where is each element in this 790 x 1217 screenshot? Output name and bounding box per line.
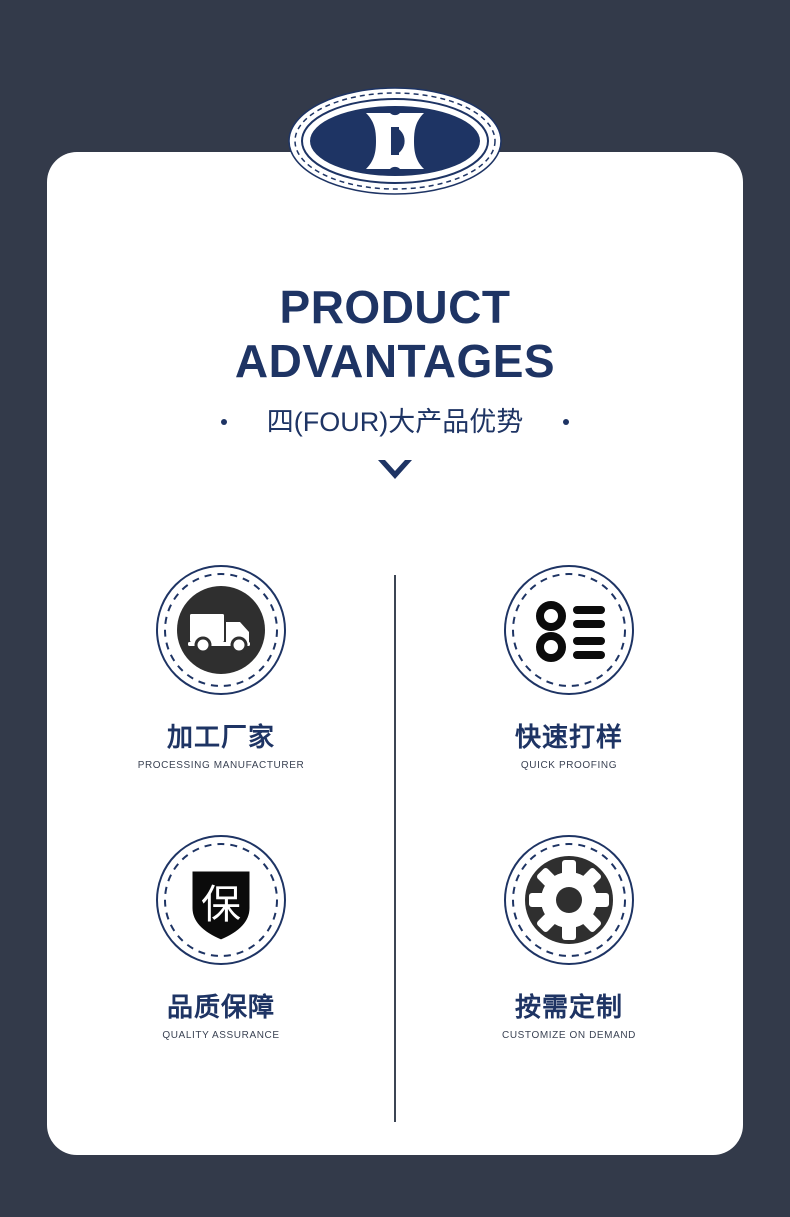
list-items-icon <box>503 564 635 696</box>
feature-item[interactable]: 快速打样 QUICK PROOFING <box>395 564 743 834</box>
feature-grid: 加工厂家 PROCESSING MANUFACTURER <box>47 564 743 1104</box>
feature-title-cn: 快速打样 <box>515 722 623 752</box>
feature-title-en: QUICK PROOFING <box>521 760 617 772</box>
subtitle-dot-right <box>563 419 569 425</box>
feature-item[interactable]: 保 品质保障 QUALITY ASSURANCE <box>47 834 395 1104</box>
gear-settings-icon <box>503 834 635 966</box>
feature-title-cn: 品质保障 <box>167 992 275 1022</box>
shield-guarantee-icon: 保 <box>155 834 287 966</box>
brand-logo <box>288 87 502 195</box>
svg-text:保: 保 <box>201 882 241 928</box>
feature-title-en: PROCESSING MANUFACTURER <box>138 760 305 772</box>
feature-title-en: QUALITY ASSURANCE <box>162 1030 279 1042</box>
feature-item[interactable]: 加工厂家 PROCESSING MANUFACTURER <box>47 564 395 834</box>
feature-title-en: CUSTOMIZE ON DEMAND <box>502 1030 636 1042</box>
chevron-down-icon <box>378 460 412 480</box>
product-advantages-card: PRODUCT ADVANTAGES 四(FOUR)大产品优势 <box>47 152 743 1155</box>
feature-title-cn: 加工厂家 <box>167 722 275 752</box>
page-subtitle: 四(FOUR)大产品优势 <box>267 406 523 438</box>
feature-title-cn: 按需定制 <box>515 992 623 1022</box>
subtitle-row: 四(FOUR)大产品优势 <box>47 406 743 438</box>
page-title-line1: PRODUCT <box>47 280 743 334</box>
page-title-line2: ADVANTAGES <box>47 334 743 388</box>
delivery-truck-icon <box>155 564 287 696</box>
subtitle-dot-left <box>221 419 227 425</box>
heading-block: PRODUCT ADVANTAGES 四(FOUR)大产品优势 <box>47 280 743 480</box>
feature-item[interactable]: 按需定制 CUSTOMIZE ON DEMAND <box>395 834 743 1104</box>
